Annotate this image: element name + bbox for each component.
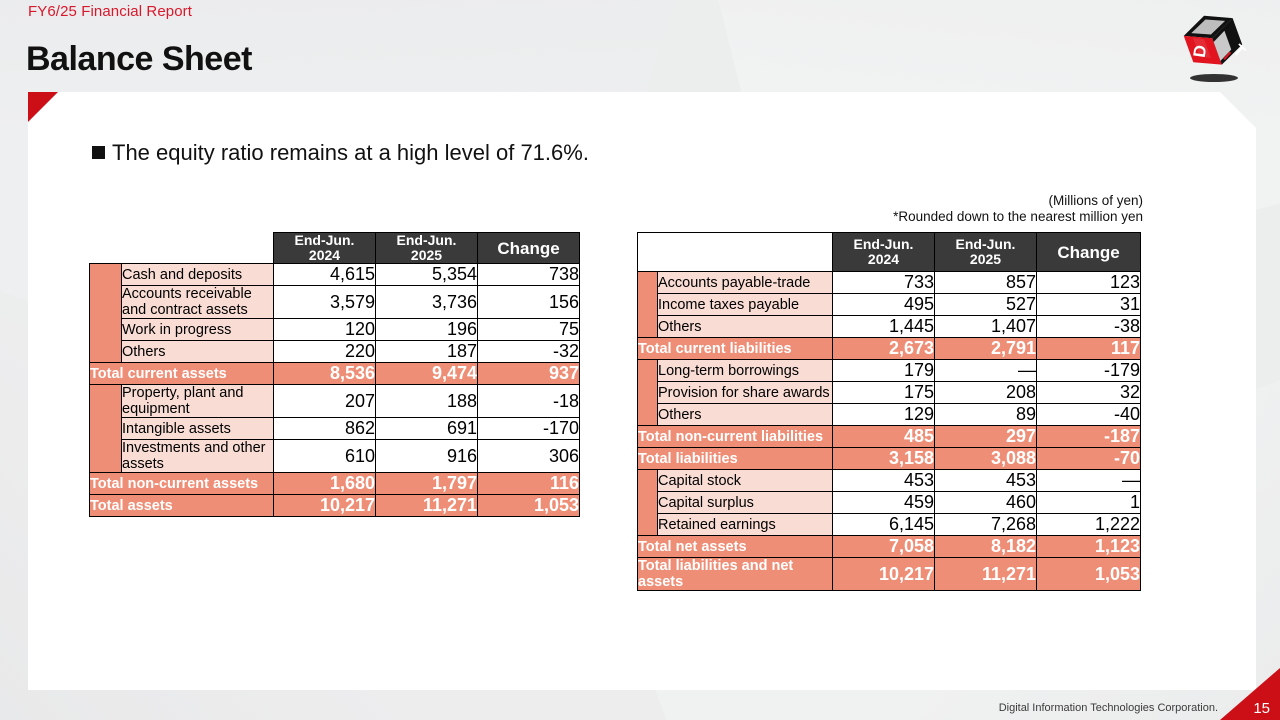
liabilities-table-body: Accounts payable-trade733857123Income ta… (638, 272, 1141, 591)
liabilities-table-header-row: End-Jun. 2024 End-Jun. 2025 Change (638, 233, 1141, 272)
item-row-v2025: 527 (935, 294, 1037, 316)
assets-header-label-spacer (122, 233, 274, 264)
item-row-change: -40 (1037, 404, 1141, 426)
item-row-v2024: 175 (833, 382, 935, 404)
table-row: Work in progress12019675 (90, 319, 580, 341)
table-row: Total non-current liabilities485297-187 (638, 426, 1141, 448)
table-row: Capital surplus4594601 (638, 492, 1141, 514)
unit-note-line2: *Rounded down to the nearest million yen (893, 209, 1143, 225)
svg-text:D: D (1190, 44, 1211, 59)
table-row: Total current assets8,5369,474937 (90, 363, 580, 385)
page-number: 15 (1253, 700, 1270, 717)
table-row: Capital stock453453— (638, 470, 1141, 492)
item-row-v2024: 207 (274, 385, 376, 418)
total-row-v2025: 297 (935, 426, 1037, 448)
item-row-change: 31 (1037, 294, 1141, 316)
item-row-v2025: 187 (376, 341, 478, 363)
item-row-v2024: 459 (833, 492, 935, 514)
section-gutter (638, 272, 658, 338)
total-row-v2025: 3,088 (935, 448, 1037, 470)
section-gutter (638, 470, 658, 536)
item-row-v2025: 89 (935, 404, 1037, 426)
assets-header-gutter-spacer (90, 233, 122, 264)
unit-note: (Millions of yen) *Rounded down to the n… (893, 193, 1143, 225)
table-row: Provision for share awards17520832 (638, 382, 1141, 404)
item-row-change: -38 (1037, 316, 1141, 338)
item-row-label: Accounts receivable and contract assets (122, 286, 274, 319)
item-row-label: Others (658, 404, 833, 426)
item-row-v2025: 691 (376, 418, 478, 440)
item-row-change: -179 (1037, 360, 1141, 382)
item-row-v2024: 862 (274, 418, 376, 440)
item-row-label: Property, plant and equipment (122, 385, 274, 418)
footer-corner-accent (1220, 668, 1280, 720)
liabilities-header-2024-line1: End-Jun. (833, 237, 934, 252)
item-row-v2025: 7,268 (935, 514, 1037, 536)
item-row-change: — (1037, 470, 1141, 492)
table-row: Intangible assets862691-170 (90, 418, 580, 440)
logo-icon: D I T (1176, 12, 1252, 78)
liabilities-header-2024-line2: 2024 (833, 252, 934, 267)
total-row-change: 1,053 (1037, 558, 1141, 591)
assets-header-change: Change (478, 233, 580, 264)
item-row-change: -18 (478, 385, 580, 418)
table-row: Accounts receivable and contract assets3… (90, 286, 580, 319)
item-row-v2024: 1,445 (833, 316, 935, 338)
table-row: Others220187-32 (90, 341, 580, 363)
total-row-label: Total current liabilities (638, 338, 833, 360)
item-row-v2024: 6,145 (833, 514, 935, 536)
total-row-label: Total liabilities and net assets (638, 558, 833, 591)
total-row-change: 1,053 (478, 495, 580, 517)
item-row-v2025: 208 (935, 382, 1037, 404)
item-row-change: 738 (478, 264, 580, 286)
assets-header-2024-line2: 2024 (274, 248, 375, 263)
total-row-change: 1,123 (1037, 536, 1141, 558)
item-row-change: 1,222 (1037, 514, 1141, 536)
assets-header-2025-line2: 2025 (376, 248, 477, 263)
item-row-v2024: 733 (833, 272, 935, 294)
liabilities-header-2024: End-Jun. 2024 (833, 233, 935, 272)
total-row-v2025: 9,474 (376, 363, 478, 385)
table-row: Long-term borrowings179—-179 (638, 360, 1141, 382)
section-gutter (90, 385, 122, 473)
table-row: Total net assets7,0588,1821,123 (638, 536, 1141, 558)
item-row-label: Capital stock (658, 470, 833, 492)
assets-header-2025-line1: End-Jun. (376, 233, 477, 248)
table-row: Income taxes payable49552731 (638, 294, 1141, 316)
item-row-v2025: 5,354 (376, 264, 478, 286)
liabilities-header-blank (638, 233, 833, 272)
assets-table-header-row: End-Jun. 2024 End-Jun. 2025 Change (90, 233, 580, 264)
table-row: Others12989-40 (638, 404, 1141, 426)
table-row: Accounts payable-trade733857123 (638, 272, 1141, 294)
total-row-change: 117 (1037, 338, 1141, 360)
footer-company: Digital Information Technologies Corpora… (999, 702, 1218, 714)
item-row-v2025: 857 (935, 272, 1037, 294)
assets-table-body: Cash and deposits4,6155,354738Accounts r… (90, 264, 580, 517)
item-row-v2025: 453 (935, 470, 1037, 492)
item-row-v2024: 610 (274, 440, 376, 473)
total-row-v2025: 11,271 (935, 558, 1037, 591)
assets-header-2024-line1: End-Jun. (274, 233, 375, 248)
total-row-change: -70 (1037, 448, 1141, 470)
total-row-v2024: 2,673 (833, 338, 935, 360)
item-row-v2024: 3,579 (274, 286, 376, 319)
item-row-label: Capital surplus (658, 492, 833, 514)
liabilities-header-change: Change (1037, 233, 1141, 272)
item-row-label: Income taxes payable (658, 294, 833, 316)
total-row-label: Total non-current assets (90, 473, 274, 495)
bullet-square-icon (92, 146, 105, 159)
item-row-v2024: 220 (274, 341, 376, 363)
item-row-label: Others (658, 316, 833, 338)
item-row-v2025: 1,407 (935, 316, 1037, 338)
item-row-label: Others (122, 341, 274, 363)
item-row-v2025: 460 (935, 492, 1037, 514)
total-row-label: Total liabilities (638, 448, 833, 470)
liabilities-header-2025-line1: End-Jun. (935, 237, 1036, 252)
slide-balance-sheet: FY6/25 Financial Report Balance Sheet D … (0, 0, 1280, 720)
assets-header-2024: End-Jun. 2024 (274, 233, 376, 264)
item-row-change: -170 (478, 418, 580, 440)
total-row-v2024: 1,680 (274, 473, 376, 495)
liabilities-header-2025-line2: 2025 (935, 252, 1036, 267)
page-title: Balance Sheet (26, 40, 252, 79)
item-row-label: Cash and deposits (122, 264, 274, 286)
logo-shadow-ellipse (1190, 74, 1238, 82)
total-row-v2025: 2,791 (935, 338, 1037, 360)
report-kicker: FY6/25 Financial Report (28, 3, 192, 20)
item-row-change: 75 (478, 319, 580, 341)
total-row-label: Total net assets (638, 536, 833, 558)
item-row-v2024: 129 (833, 404, 935, 426)
item-row-label: Accounts payable-trade (658, 272, 833, 294)
total-row-v2024: 10,217 (833, 558, 935, 591)
item-row-label: Retained earnings (658, 514, 833, 536)
item-row-v2025: 196 (376, 319, 478, 341)
item-row-v2024: 453 (833, 470, 935, 492)
table-row: Investments and other assets610916306 (90, 440, 580, 473)
liabilities-table: End-Jun. 2024 End-Jun. 2025 Change Accou… (637, 232, 1141, 591)
item-row-v2024: 495 (833, 294, 935, 316)
table-row: Total liabilities and net assets10,21711… (638, 558, 1141, 591)
liabilities-header-2025: End-Jun. 2025 (935, 233, 1037, 272)
item-row-v2025: 3,736 (376, 286, 478, 319)
assets-header-2025: End-Jun. 2025 (376, 233, 478, 264)
total-row-v2025: 8,182 (935, 536, 1037, 558)
item-row-change: 306 (478, 440, 580, 473)
item-row-v2024: 179 (833, 360, 935, 382)
item-row-change: 123 (1037, 272, 1141, 294)
item-row-v2025: — (935, 360, 1037, 382)
section-gutter (90, 264, 122, 363)
table-row: Total liabilities3,1583,088-70 (638, 448, 1141, 470)
item-row-label: Intangible assets (122, 418, 274, 440)
item-row-label: Provision for share awards (658, 382, 833, 404)
total-row-v2025: 1,797 (376, 473, 478, 495)
total-row-v2024: 3,158 (833, 448, 935, 470)
assets-table: End-Jun. 2024 End-Jun. 2025 Change Cash … (89, 232, 580, 517)
unit-note-line1: (Millions of yen) (893, 193, 1143, 209)
item-row-label: Investments and other assets (122, 440, 274, 473)
table-row: Cash and deposits4,6155,354738 (90, 264, 580, 286)
total-row-label: Total non-current liabilities (638, 426, 833, 448)
table-row: Total non-current assets1,6801,797116 (90, 473, 580, 495)
total-row-label: Total current assets (90, 363, 274, 385)
table-row: Property, plant and equipment207188-18 (90, 385, 580, 418)
item-row-change: 1 (1037, 492, 1141, 514)
total-row-change: -187 (1037, 426, 1141, 448)
item-row-v2024: 4,615 (274, 264, 376, 286)
table-row: Retained earnings6,1457,2681,222 (638, 514, 1141, 536)
table-row: Total assets10,21711,2711,053 (90, 495, 580, 517)
section-gutter (638, 360, 658, 426)
table-row: Others1,4451,407-38 (638, 316, 1141, 338)
total-row-v2024: 7,058 (833, 536, 935, 558)
item-row-change: 156 (478, 286, 580, 319)
panel-corner-accent (28, 92, 58, 122)
total-row-change: 937 (478, 363, 580, 385)
item-row-v2025: 916 (376, 440, 478, 473)
item-row-label: Work in progress (122, 319, 274, 341)
total-row-v2024: 8,536 (274, 363, 376, 385)
item-row-v2024: 120 (274, 319, 376, 341)
total-row-change: 116 (478, 473, 580, 495)
key-message-text: The equity ratio remains at a high level… (112, 140, 589, 165)
item-row-v2025: 188 (376, 385, 478, 418)
item-row-change: 32 (1037, 382, 1141, 404)
total-row-v2025: 11,271 (376, 495, 478, 517)
item-row-change: -32 (478, 341, 580, 363)
dit-cube-logo: D I T (1176, 12, 1252, 84)
item-row-label: Long-term borrowings (658, 360, 833, 382)
key-message: The equity ratio remains at a high level… (92, 140, 589, 166)
total-row-v2024: 10,217 (274, 495, 376, 517)
total-row-label: Total assets (90, 495, 274, 517)
table-row: Total current liabilities2,6732,791117 (638, 338, 1141, 360)
total-row-v2024: 485 (833, 426, 935, 448)
